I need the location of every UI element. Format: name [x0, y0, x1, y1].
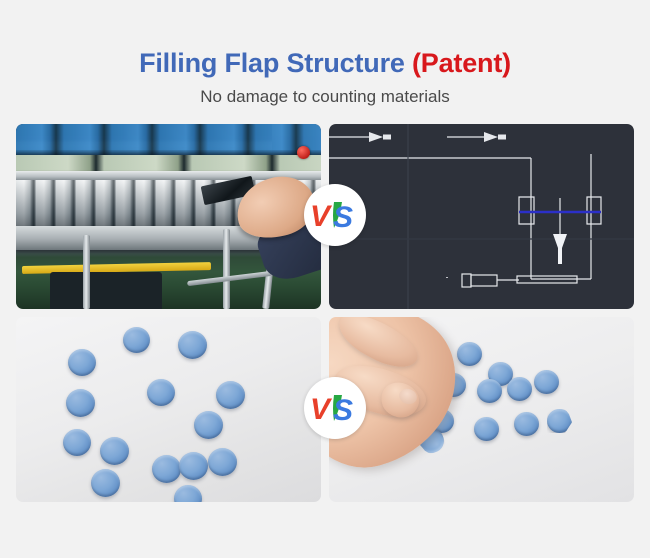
cad-drawing-svg — [329, 124, 634, 309]
cad-right-bracket — [587, 197, 601, 224]
tablet — [152, 455, 181, 483]
machine-photo-canvas — [16, 124, 321, 309]
cad-arrow-head-icon — [484, 132, 498, 142]
tablet — [507, 377, 532, 401]
tablet — [208, 448, 237, 476]
tablet — [178, 331, 207, 359]
photo-intact-tablets — [16, 317, 321, 502]
cad-arrow-head-icon — [369, 132, 383, 142]
title-patent-text: (Patent) — [412, 48, 511, 78]
vs-badge-row2: V S — [304, 377, 366, 439]
tablet — [534, 370, 559, 394]
page-subtitle: No damage to counting materials — [0, 86, 650, 108]
machine-support-leg — [223, 229, 230, 309]
intact-tablets-canvas — [16, 317, 321, 502]
vs-logo-icon: V S — [310, 198, 360, 232]
title-main-text: Filling Flap Structure — [139, 48, 412, 78]
tablet — [514, 412, 539, 436]
photo-damaged-tablets — [329, 317, 634, 502]
comparison-grid — [16, 124, 634, 502]
tablet — [100, 437, 129, 465]
tablet-chipped — [547, 409, 572, 433]
tablet — [91, 469, 120, 497]
vs-logo-icon: V S — [310, 391, 360, 425]
vs-letter-v: V — [310, 200, 333, 232]
cad-arrow-tail — [498, 135, 506, 140]
vs-letter-s: S — [333, 201, 353, 232]
cad-down-arrow-icon — [553, 234, 567, 264]
cad-canvas — [329, 124, 634, 309]
machine-blue-housing — [16, 124, 321, 157]
cad-cylinder-cap — [462, 274, 471, 287]
tablet — [179, 452, 208, 480]
tablet — [123, 327, 150, 353]
cad-cylinder-body — [471, 275, 497, 286]
vs-letter-v: V — [310, 393, 333, 425]
cad-filling-flap-drawing — [329, 124, 634, 309]
tablet — [474, 417, 499, 441]
tablet — [147, 379, 175, 406]
tablet — [477, 379, 502, 403]
machine-lower-cabinet — [50, 272, 163, 309]
cad-arrow-tail — [383, 135, 391, 140]
promo-banner: Filling Flap Structure (Patent) No damag… — [0, 0, 650, 558]
vs-badge-row1: V S — [304, 184, 366, 246]
photo-counting-machine — [16, 124, 321, 309]
header-block: Filling Flap Structure (Patent) No damag… — [0, 46, 650, 108]
tablet — [174, 485, 202, 502]
tablet — [457, 342, 482, 366]
cad-left-bracket — [519, 197, 534, 224]
vs-letter-s: S — [333, 394, 353, 425]
tablet — [63, 429, 91, 456]
tablet — [66, 389, 95, 417]
tablet — [68, 349, 96, 376]
tablet — [194, 411, 223, 439]
tablet — [216, 381, 245, 409]
machine-support-leg — [83, 235, 90, 309]
page-title: Filling Flap Structure (Patent) — [0, 46, 650, 80]
machine-green-panels — [16, 155, 321, 172]
damaged-tablets-canvas — [329, 317, 634, 502]
